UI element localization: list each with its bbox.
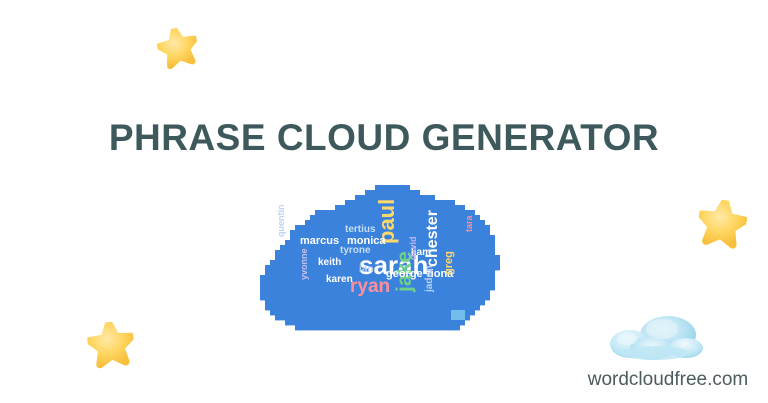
word-keith: keith: [318, 258, 341, 268]
word-karen: karen: [326, 275, 353, 285]
word-quentin: quentin: [277, 205, 286, 238]
page-root: PHRASE CLOUD GENERATOR sarahpauljakeryan…: [0, 0, 768, 403]
star-top-left-icon: [154, 24, 201, 71]
word-david: david: [409, 236, 418, 260]
word-ryan: ryan: [350, 277, 390, 296]
word-chester: chester: [425, 210, 441, 267]
brand-footer[interactable]: wordcloudfree.com: [578, 313, 758, 395]
word-jadon: jadon: [425, 265, 435, 292]
word-ian: ian: [359, 265, 373, 275]
brand-name: wordcloudfree.com: [578, 369, 758, 391]
star-bottom-left-icon: [86, 320, 137, 371]
word-greg: greg: [444, 251, 455, 275]
word-cloud: sarahpauljakeryanchestermonicatertiustyr…: [255, 180, 505, 335]
word-marcus: marcus: [300, 236, 339, 247]
word-yvonne: yvonne: [300, 248, 309, 280]
word-tertius: tertius: [345, 225, 376, 235]
star-right-icon: [695, 197, 749, 251]
word-george: george: [386, 269, 423, 280]
page-title: PHRASE CLOUD GENERATOR: [0, 117, 768, 159]
word-tyrone: tyrone: [340, 246, 371, 256]
word-cloud-words: sarahpauljakeryanchestermonicatertiustyr…: [255, 180, 505, 335]
word-tara: tara: [465, 215, 474, 232]
cloud-icon: [600, 313, 710, 365]
